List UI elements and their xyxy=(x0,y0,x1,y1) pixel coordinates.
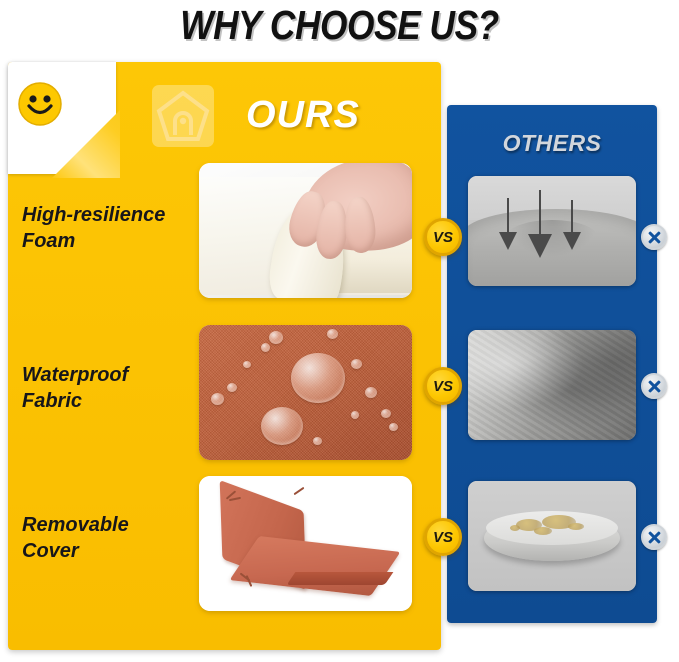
feature-label-fabric: Waterproof Fabric xyxy=(22,363,198,414)
house-pentagon-logo-icon xyxy=(152,85,214,147)
feature-label-line1: High-resilience xyxy=(22,203,198,229)
ours-feature-image-cover xyxy=(199,476,412,611)
feature-label-cover: Removable Cover xyxy=(22,513,198,564)
others-heading: OTHERS xyxy=(447,130,657,157)
feature-label-foam: High-resilience Foam xyxy=(22,203,198,254)
others-feature-image-foam xyxy=(468,176,636,286)
water-droplet xyxy=(227,383,237,392)
feature-label-line2: Fabric xyxy=(22,389,198,415)
water-droplet xyxy=(389,423,398,431)
stain-mark xyxy=(568,523,584,530)
water-droplet xyxy=(351,411,359,419)
page-title: WHY CHOOSE US? xyxy=(48,2,632,49)
ours-feature-image-fabric xyxy=(199,325,412,460)
feature-label-line1: Waterproof xyxy=(22,363,198,389)
water-droplet xyxy=(243,361,251,368)
stain-mark xyxy=(534,527,552,535)
ours-heading: OURS xyxy=(246,94,360,137)
water-droplet xyxy=(269,331,283,344)
water-droplet xyxy=(351,359,362,369)
others-feature-image-fabric xyxy=(468,330,636,440)
water-droplet xyxy=(211,393,224,405)
circled-x-icon xyxy=(641,524,667,550)
others-feature-image-cover xyxy=(468,481,636,591)
feature-label-line1: Removable xyxy=(22,513,198,539)
vs-badge: VS xyxy=(424,518,462,556)
ours-feature-image-foam xyxy=(199,163,412,298)
stain-mark xyxy=(510,525,520,531)
water-droplet xyxy=(365,387,377,398)
cushion-edge xyxy=(287,572,394,585)
feature-label-line2: Foam xyxy=(22,229,198,255)
water-droplet xyxy=(261,407,303,445)
circled-x-icon xyxy=(641,224,667,250)
water-droplet xyxy=(261,343,270,352)
soaked-fabric-texture xyxy=(468,330,636,440)
feature-label-line2: Cover xyxy=(22,539,198,565)
page-curl xyxy=(8,62,120,178)
water-droplet xyxy=(327,329,338,339)
water-droplet xyxy=(291,353,345,403)
circled-x-icon xyxy=(641,373,667,399)
vs-badge: VS xyxy=(424,218,462,256)
water-droplet xyxy=(313,437,322,445)
vs-badge: VS xyxy=(424,367,462,405)
water-droplet xyxy=(381,409,391,418)
